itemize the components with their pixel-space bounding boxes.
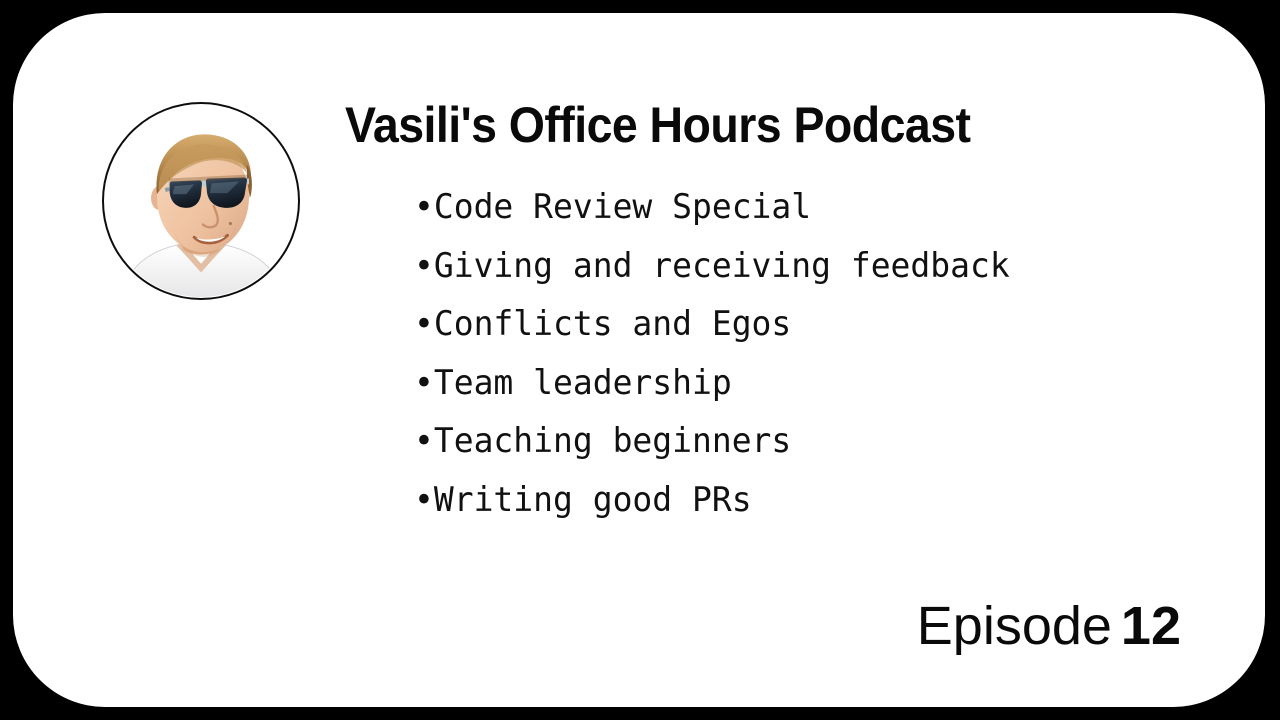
bullet-icon: • xyxy=(414,246,434,286)
list-item: •Writing good PRs xyxy=(414,471,1010,530)
bullet-icon: • xyxy=(414,421,434,461)
slide-canvas: Vasili's Office Hours Podcast •Code Revi… xyxy=(0,0,1280,720)
list-item-label: Code Review Special xyxy=(434,187,811,227)
episode-badge: Episode12 xyxy=(917,595,1181,657)
page-title: Vasili's Office Hours Podcast xyxy=(345,96,970,154)
list-item: •Teaching beginners xyxy=(414,412,1010,471)
list-item: •Conflicts and Egos xyxy=(414,295,1010,354)
list-item-label: Conflicts and Egos xyxy=(434,304,791,344)
list-item-label: Team leadership xyxy=(434,363,732,403)
list-item-label: Teaching beginners xyxy=(434,421,791,461)
list-item-label: Writing good PRs xyxy=(434,480,752,520)
bullet-icon: • xyxy=(414,187,434,227)
content-card: Vasili's Office Hours Podcast •Code Revi… xyxy=(13,13,1265,707)
topic-list: •Code Review Special •Giving and receivi… xyxy=(414,178,1028,529)
episode-label: Episode xyxy=(917,596,1112,656)
avatar xyxy=(102,102,300,300)
bullet-icon: • xyxy=(414,480,434,520)
bullet-icon: • xyxy=(414,304,434,344)
list-item: •Giving and receiving feedback xyxy=(414,237,1010,296)
bullet-icon: • xyxy=(414,363,434,403)
list-item-label: Giving and receiving feedback xyxy=(434,246,1010,286)
episode-number: 12 xyxy=(1121,596,1181,656)
list-item: •Team leadership xyxy=(414,354,1010,413)
list-item: •Code Review Special xyxy=(414,178,1010,237)
